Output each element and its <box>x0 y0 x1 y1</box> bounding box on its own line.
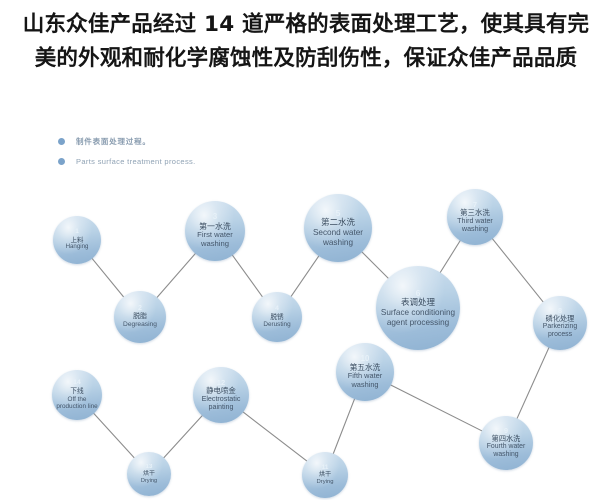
flow-node-label-en: Electrostatic painting <box>193 395 249 411</box>
flow-node-label-cn: 磷化处理 <box>546 315 575 323</box>
flow-edge <box>517 347 550 420</box>
flow-node-label-en: Drying <box>138 478 160 484</box>
flow-node-number: 9 <box>504 427 508 434</box>
flow-node-number: 5 <box>336 209 341 218</box>
flow-node-label-cn: 烘干 <box>143 471 155 478</box>
flow-edge <box>440 240 461 273</box>
flow-edge <box>92 258 125 298</box>
flow-node-number: 4 <box>275 306 279 313</box>
flow-node-label-en: Hanging <box>63 244 92 251</box>
flow-node-label-en: Off the production line <box>52 396 102 410</box>
legend-item: 制件表面处理过程。 <box>58 133 196 150</box>
flow-node-13[interactable]: 13烘干Drying <box>127 452 171 496</box>
flow-node-10[interactable]: 10第五水洗Fifth water washing <box>336 343 394 401</box>
flow-node-label-cn: 第四水洗 <box>492 435 521 443</box>
flow-node-number: 8 <box>558 307 562 314</box>
flow-node-label-en: Degreasing <box>120 321 160 328</box>
flow-edge <box>156 253 196 298</box>
flow-node-number: 6 <box>416 289 421 298</box>
flow-edge <box>492 238 544 303</box>
flow-node-2[interactable]: 2脱脂Degreasing <box>114 291 166 343</box>
flow-node-label-cn: 第三水洗 <box>460 209 490 217</box>
flow-edge <box>163 415 203 459</box>
flow-node-number: 13 <box>146 464 153 470</box>
flow-node-label-en: Derusting <box>260 321 293 328</box>
flow-node-label-cn: 烘干 <box>319 472 331 479</box>
flow-node-number: 7 <box>473 201 477 209</box>
flow-node-number: 3 <box>213 213 217 221</box>
flow-node-label-cn: 脱锈 <box>270 314 283 321</box>
flow-node-label-cn: 表调处理 <box>401 299 435 309</box>
flow-node-number: 1 <box>75 229 79 236</box>
flow-edge <box>291 255 320 297</box>
flow-edge <box>361 251 389 279</box>
flow-node-7[interactable]: 7第三水洗Third water washing <box>447 189 503 245</box>
flow-node-11[interactable]: 11烘干Drying <box>302 452 348 498</box>
flow-node-1[interactable]: 1上料Hanging <box>53 216 101 264</box>
flow-node-label-en: First water washing <box>185 231 245 248</box>
flow-node-label-en: Fourth water washing <box>479 443 533 458</box>
flow-node-label-en: Drying <box>314 479 337 486</box>
flow-edge <box>242 411 307 461</box>
flow-node-label-cn: 下线 <box>70 388 83 395</box>
flow-node-8[interactable]: 8磷化处理Parkerizing process <box>533 296 587 350</box>
flow-node-label-en: Fifth water washing <box>336 372 394 389</box>
flow-node-label-en: Second water washing <box>304 228 372 246</box>
flow-node-number: 12 <box>217 379 225 387</box>
flow-node-label-cn: 第二水洗 <box>321 219 355 229</box>
flow-node-label-cn: 脱脂 <box>133 313 147 321</box>
flow-node-5[interactable]: 5第二水洗Second water washing <box>304 194 372 262</box>
legend-item-label: 制件表面处理过程。 <box>76 136 151 147</box>
flow-edge <box>390 385 483 432</box>
page-title: 山东众佳产品经过 14 道严格的表面处理工艺，使其具有完美的外观和耐化学腐蚀性及… <box>0 0 612 76</box>
flow-node-4[interactable]: 4脱锈Derusting <box>252 292 302 342</box>
process-flow-diagram: 1上料Hanging2脱脂Degreasing3第一水洗First water … <box>0 165 612 500</box>
flow-node-label-en: Surface conditioning agent processing <box>376 308 460 326</box>
flow-node-label-en: Third water washing <box>447 217 503 233</box>
flow-node-9[interactable]: 9第四水洗Fourth water washing <box>479 416 533 470</box>
flow-node-label-cn: 静电喷金 <box>206 387 236 395</box>
bullet-dot-icon <box>58 138 65 145</box>
flow-edge <box>232 255 263 298</box>
flow-edge <box>333 398 355 454</box>
page-root: 山东众佳产品经过 14 道严格的表面处理工艺，使其具有完美的外观和耐化学腐蚀性及… <box>0 0 612 500</box>
bullet-dot-icon <box>58 158 65 165</box>
flow-node-12[interactable]: 12静电喷金Electrostatic painting <box>193 367 249 423</box>
flow-node-6[interactable]: 6表调处理Surface conditioning agent processi… <box>376 266 460 350</box>
flow-node-3[interactable]: 3第一水洗First water washing <box>185 201 245 261</box>
flow-node-number: 2 <box>138 305 142 312</box>
flow-node-number: 10 <box>361 355 370 363</box>
flow-node-number: 11 <box>322 465 329 471</box>
flow-node-14[interactable]: 14下线Off the production line <box>52 370 102 420</box>
flow-node-number: 14 <box>73 380 81 387</box>
flow-node-label-en: Parkerizing process <box>533 323 587 338</box>
flow-edge <box>93 413 135 459</box>
